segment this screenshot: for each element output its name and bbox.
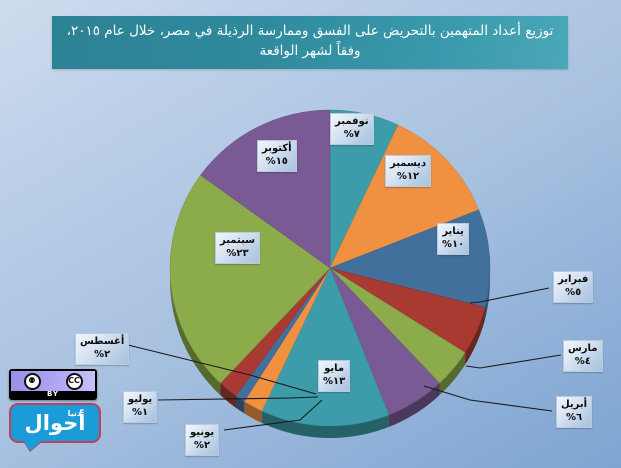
pie-data-label-percent: ٢% [80, 349, 124, 362]
pie-data-label-percent: ٢% [190, 440, 214, 453]
pie-data-label-3: فبراير٥% [553, 271, 593, 303]
pie-data-label-name: أكتوبر [262, 143, 292, 154]
cc-icon: CC [66, 373, 83, 390]
pie-data-label-10: سبتمبر٢٣% [215, 232, 260, 264]
ahwal-logo-subword: دنيا [68, 409, 81, 418]
pie-data-label-name: نوفمبر [335, 116, 369, 127]
creative-commons-badge: CC ⚉ BY [9, 369, 97, 400]
pie-data-label-percent: ١٣% [323, 376, 345, 389]
pie-data-label-name: سبتمبر [220, 235, 255, 246]
pie-data-label-percent: ٧% [335, 129, 369, 142]
pie-data-label-7: يونيو٢% [185, 424, 219, 456]
ahwal-logo-bubble: أحوال دنيا [9, 403, 101, 443]
pie-data-label-4: مارس٤% [563, 340, 603, 372]
pie-data-label-1: ديسمبر١٢% [385, 155, 431, 187]
pie-data-label-percent: ٦% [561, 412, 587, 425]
pie-data-label-name: مايو [324, 363, 344, 374]
person-attribution-icon: ⚉ [24, 373, 41, 390]
cc-badge-inner: CC ⚉ [11, 371, 95, 391]
pie-data-label-5: أبريل٦% [556, 396, 592, 428]
pie-slice-depth [440, 382, 441, 395]
pie-data-label-8: يوليو١% [123, 391, 157, 423]
pie-slice-depth [236, 396, 237, 409]
pie-data-label-percent: ١٥% [262, 156, 292, 169]
pie-data-label-name: مارس [568, 343, 598, 354]
pie-data-label-6: مايو١٣% [318, 360, 350, 392]
pie-slice-depth [389, 414, 391, 427]
pie-data-label-name: أغسطس [80, 336, 124, 347]
pie-data-label-name: يوليو [128, 394, 152, 405]
pie-data-label-name: أبريل [561, 399, 587, 410]
pie-data-label-name: ديسمبر [390, 158, 426, 169]
pie-data-label-2: يناير١٠% [437, 223, 469, 255]
pie-data-label-name: يناير [442, 226, 464, 237]
pie-data-label-name: يونيو [190, 427, 214, 438]
pie-slice-depth [262, 411, 264, 424]
pie-data-label-9: أغسطس٢% [75, 333, 129, 365]
pie-data-label-percent: ٢٣% [220, 248, 255, 261]
pie-data-label-11: أكتوبر١٥% [257, 140, 297, 172]
ahwal-logo-tail [23, 440, 43, 451]
pie-data-label-percent: ١٠% [442, 239, 464, 252]
leader-line-4 [466, 355, 561, 368]
pie-data-label-percent: ٤% [568, 356, 598, 369]
pie-data-label-0: نوفمبر٧% [330, 113, 374, 145]
pie-data-label-percent: ٥% [558, 287, 588, 300]
cc-by-label: BY [9, 390, 97, 398]
pie-data-label-percent: ١% [128, 407, 152, 420]
pie-data-label-name: فبراير [558, 274, 588, 285]
ahwal-logo: أحوال دنيا [9, 403, 101, 450]
pie-data-label-percent: ١٢% [390, 171, 426, 184]
chart-canvas: توزيع أعداد المتهمين بالتحريض على الفسق … [0, 0, 621, 468]
